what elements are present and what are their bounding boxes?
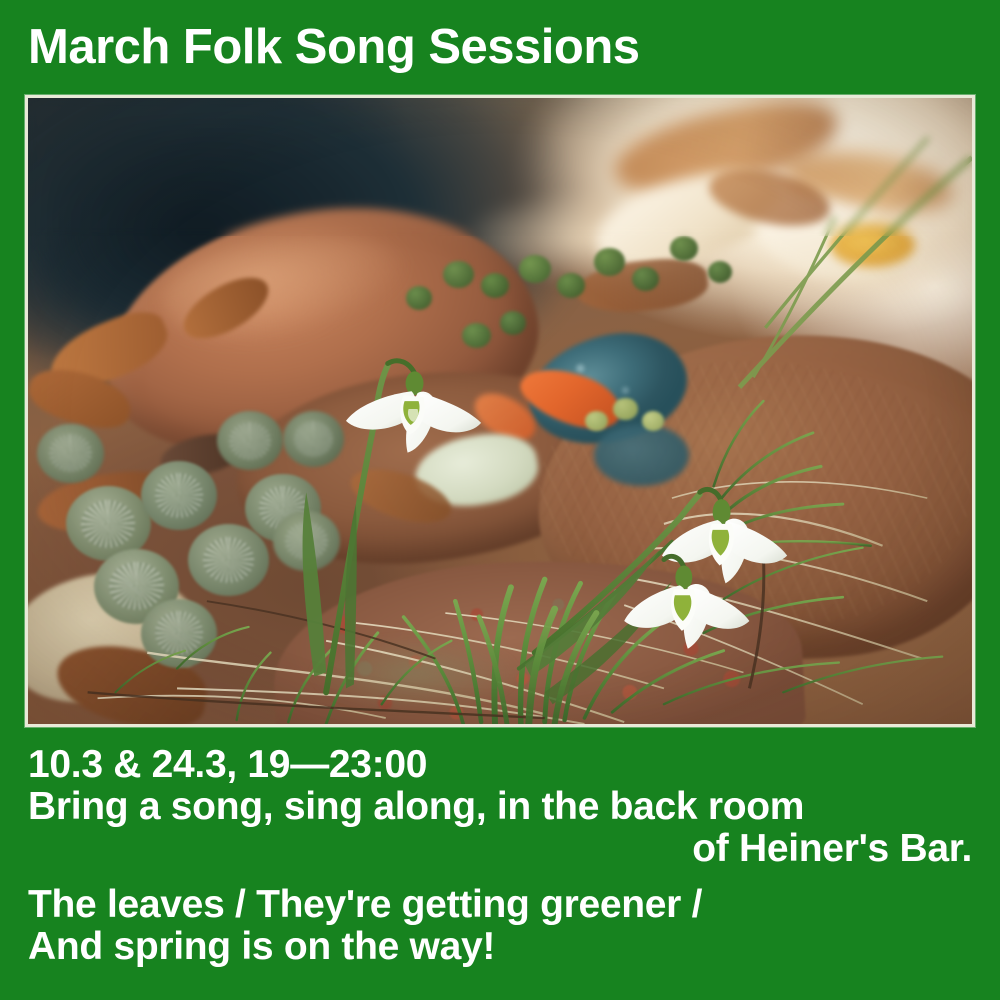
event-venue: of Heiner's Bar.	[28, 828, 972, 870]
photo-vignette	[28, 98, 972, 724]
lyrics-block: The leaves / They're getting greener / A…	[28, 884, 972, 968]
lyrics-line-2: And spring is on the way!	[28, 926, 972, 968]
poster-root: March Folk Song Sessions	[0, 0, 1000, 1000]
photo-image	[28, 98, 972, 724]
lyrics-line-1: The leaves / They're getting greener /	[28, 884, 972, 926]
photo-frame	[25, 95, 975, 727]
event-details: 10.3 & 24.3, 19—23:00 Bring a song, sing…	[28, 744, 972, 870]
event-description-line-1: Bring a song, sing along, in the back ro…	[28, 786, 972, 828]
page-title: March Folk Song Sessions	[28, 22, 968, 73]
event-dates-times: 10.3 & 24.3, 19—23:00	[28, 744, 972, 786]
